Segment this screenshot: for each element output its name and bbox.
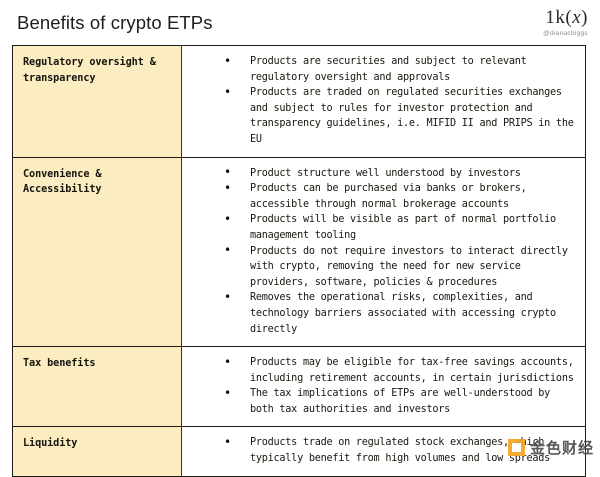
table-row: Convenience & Accessibility Product stru… bbox=[13, 157, 586, 347]
page-title: Benefits of crypto ETPs bbox=[17, 12, 213, 34]
category-label: Regulatory oversight & transparency bbox=[23, 55, 173, 86]
table-row: Tax benefits Products may be eligible fo… bbox=[13, 347, 586, 427]
brand-wordmark-prefix: 1k( bbox=[545, 7, 572, 28]
bullet-list: Product structure well understood by inv… bbox=[182, 166, 579, 338]
brand-wordmark-variable: x bbox=[572, 7, 581, 28]
bullet-list: Products are securities and subject to r… bbox=[182, 54, 579, 148]
table-cell-details: Product structure well understood by inv… bbox=[182, 157, 586, 347]
brand-logo: 1k(x) @dianacbiggs bbox=[543, 8, 588, 38]
table-row: Liquidity Products trade on regulated st… bbox=[13, 427, 586, 476]
table-cell-category: Convenience & Accessibility bbox=[13, 157, 182, 347]
list-item: Products do not require investors to int… bbox=[224, 244, 579, 291]
benefits-table: Regulatory oversight & transparency Prod… bbox=[12, 45, 586, 477]
list-item: Products can be purchased via banks or b… bbox=[224, 181, 579, 212]
category-label: Convenience & Accessibility bbox=[23, 167, 173, 198]
list-item: Product structure well understood by inv… bbox=[224, 166, 579, 182]
page-header: Benefits of crypto ETPs 1k(x) @dianacbig… bbox=[0, 0, 600, 46]
table-cell-details: Products may be eligible for tax-free sa… bbox=[182, 347, 586, 427]
list-item: The tax implications of ETPs are well-un… bbox=[224, 386, 579, 417]
list-item: Products will be visible as part of norm… bbox=[224, 212, 579, 243]
list-item: Products may be eligible for tax-free sa… bbox=[224, 355, 579, 386]
table-cell-details: Products are securities and subject to r… bbox=[182, 46, 586, 158]
table-cell-category: Regulatory oversight & transparency bbox=[13, 46, 182, 158]
table-cell-category: Tax benefits bbox=[13, 347, 182, 427]
category-label: Liquidity bbox=[23, 436, 173, 452]
list-item: Products are traded on regulated securit… bbox=[224, 85, 579, 147]
list-item: Removes the operational risks, complexit… bbox=[224, 290, 579, 337]
bullet-list: Products may be eligible for tax-free sa… bbox=[182, 355, 579, 417]
category-label: Tax benefits bbox=[23, 356, 173, 372]
brand-wordmark-suffix: ) bbox=[581, 7, 588, 28]
table-cell-category: Liquidity bbox=[13, 427, 182, 476]
table-cell-details: Products trade on regulated stock exchan… bbox=[182, 427, 586, 476]
list-item: Products are securities and subject to r… bbox=[224, 54, 579, 85]
brand-wordmark: 1k(x) bbox=[543, 8, 588, 27]
brand-handle: @dianacbiggs bbox=[543, 31, 588, 38]
table-row: Regulatory oversight & transparency Prod… bbox=[13, 46, 586, 158]
